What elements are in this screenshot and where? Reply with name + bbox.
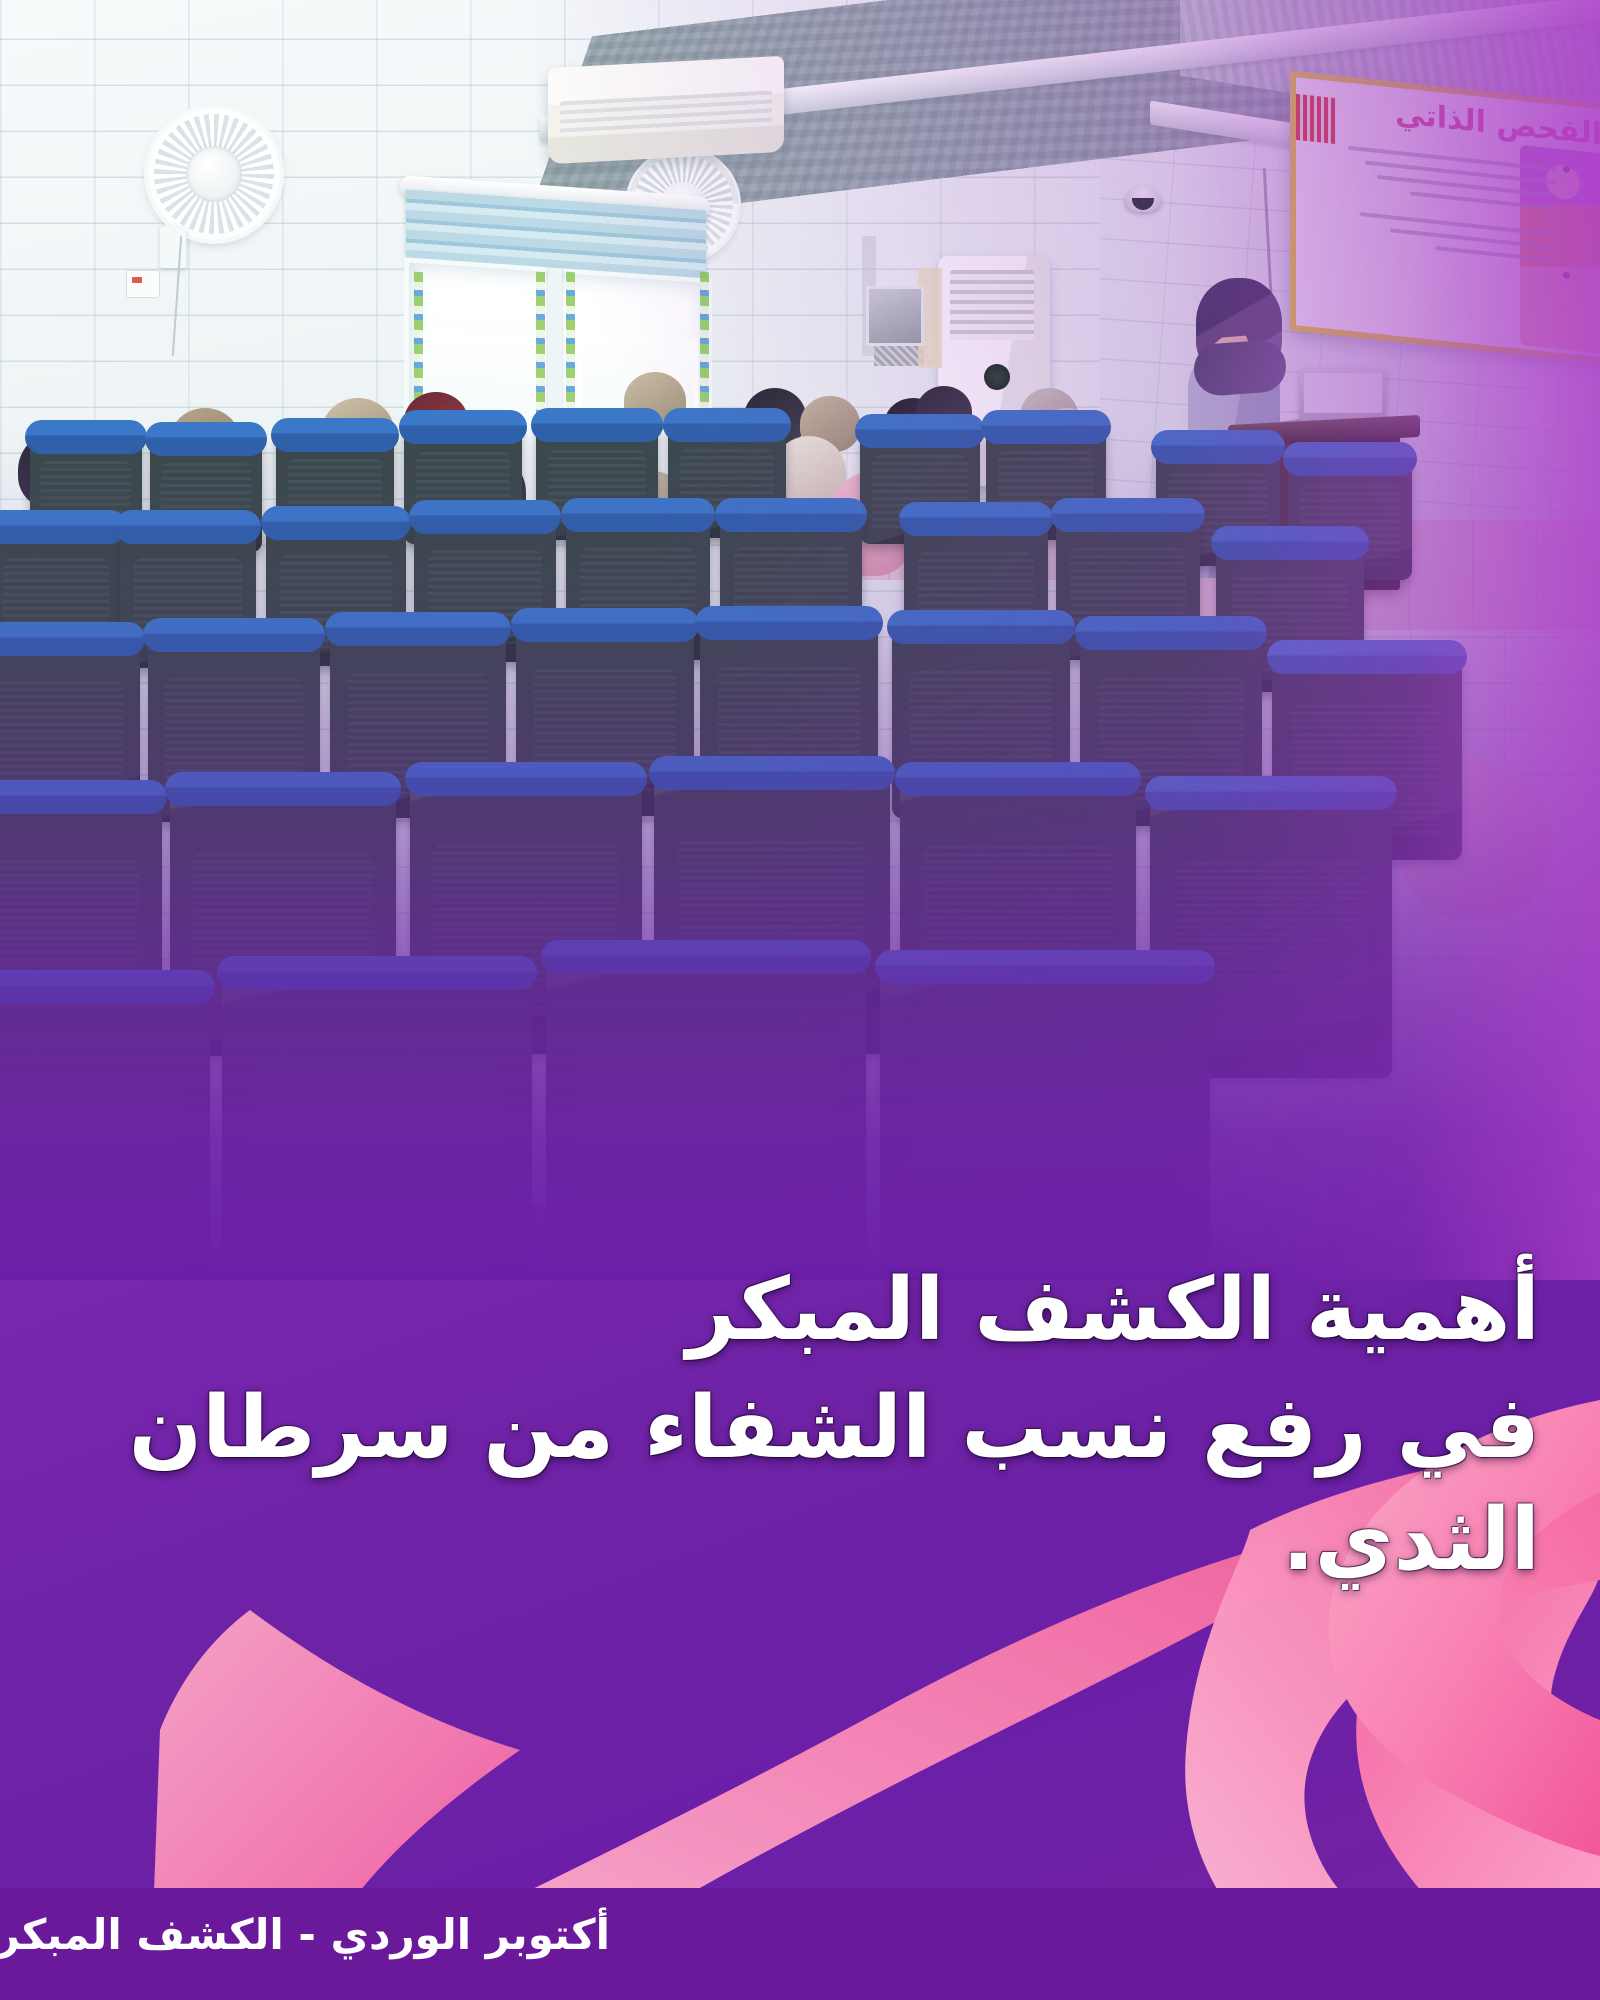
slide-body-text [1348, 137, 1556, 272]
podium-laptop [1300, 368, 1386, 422]
wall-fan-mount [160, 226, 186, 268]
campaign-tagline: أكتوبر الوردي - الكشف المبكر ينقذ الحياة [0, 1910, 610, 1959]
awareness-poster: الفحص الذاتي [0, 0, 1600, 2000]
headline-line-1: أهمية الكشف المبكر [60, 1255, 1540, 1367]
lecture-hall-photo: الفحص الذاتي [0, 0, 1600, 1420]
speaker-scarf [1192, 339, 1287, 397]
page-title: أهمية الكشف المبكر في رفع نسب الشفاء من … [60, 1255, 1540, 1596]
power-socket [126, 270, 160, 298]
wall-picture [866, 286, 924, 346]
slide-bullet [1563, 165, 1570, 173]
split-air-conditioner [548, 56, 784, 164]
projection-screen: الفحص الذاتي [1290, 71, 1600, 366]
headline-line-2: في رفع نسب الشفاء من سرطان الثدي. [60, 1373, 1540, 1597]
footer-brand-cluster: مستشفى الكفيل التخصصي ALKAFEEL SUPER SPE… [0, 1660, 1600, 1850]
slide-bullet [1563, 271, 1570, 279]
security-camera-icon [1125, 186, 1161, 212]
wall-fan [148, 108, 280, 240]
screen-clip [1296, 94, 1336, 144]
campaign-tagline-bar: أكتوبر الوردي - الكشف المبكر ينقذ الحياة [0, 1888, 1600, 2000]
